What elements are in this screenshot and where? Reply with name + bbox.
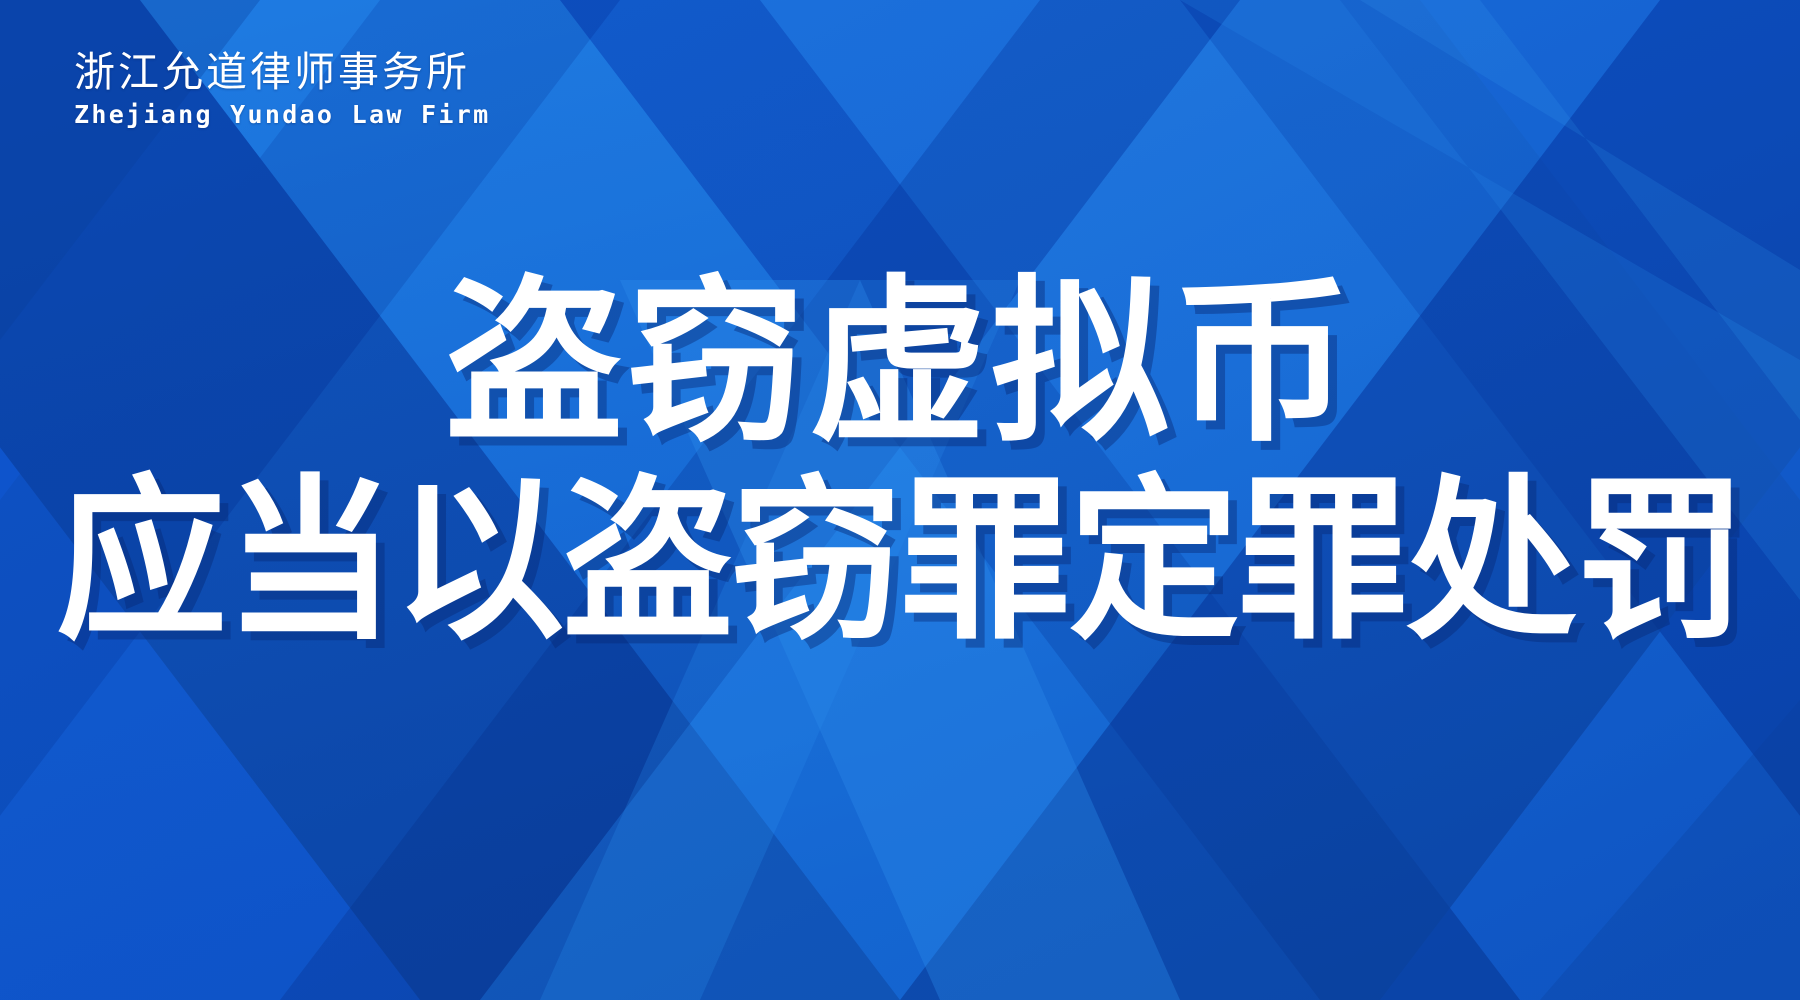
headline-line-2: 应当以盗窃罪定罪处罚 bbox=[27, 474, 1773, 650]
firm-name-en: Zhejiang Yundao Law Firm bbox=[74, 102, 490, 127]
headline-line-1: 盗窃虚拟币 bbox=[0, 274, 1800, 452]
firm-name-cn: 浙江允道律师事务所 bbox=[74, 52, 490, 93]
headline-block: 盗窃虚拟币 应当以盗窃罪定罪处罚 bbox=[0, 274, 1800, 650]
firm-logo: 浙江允道律师事务所 Zhejiang Yundao Law Firm bbox=[74, 52, 490, 127]
poster-canvas: 浙江允道律师事务所 Zhejiang Yundao Law Firm 盗窃虚拟币… bbox=[0, 0, 1800, 1000]
